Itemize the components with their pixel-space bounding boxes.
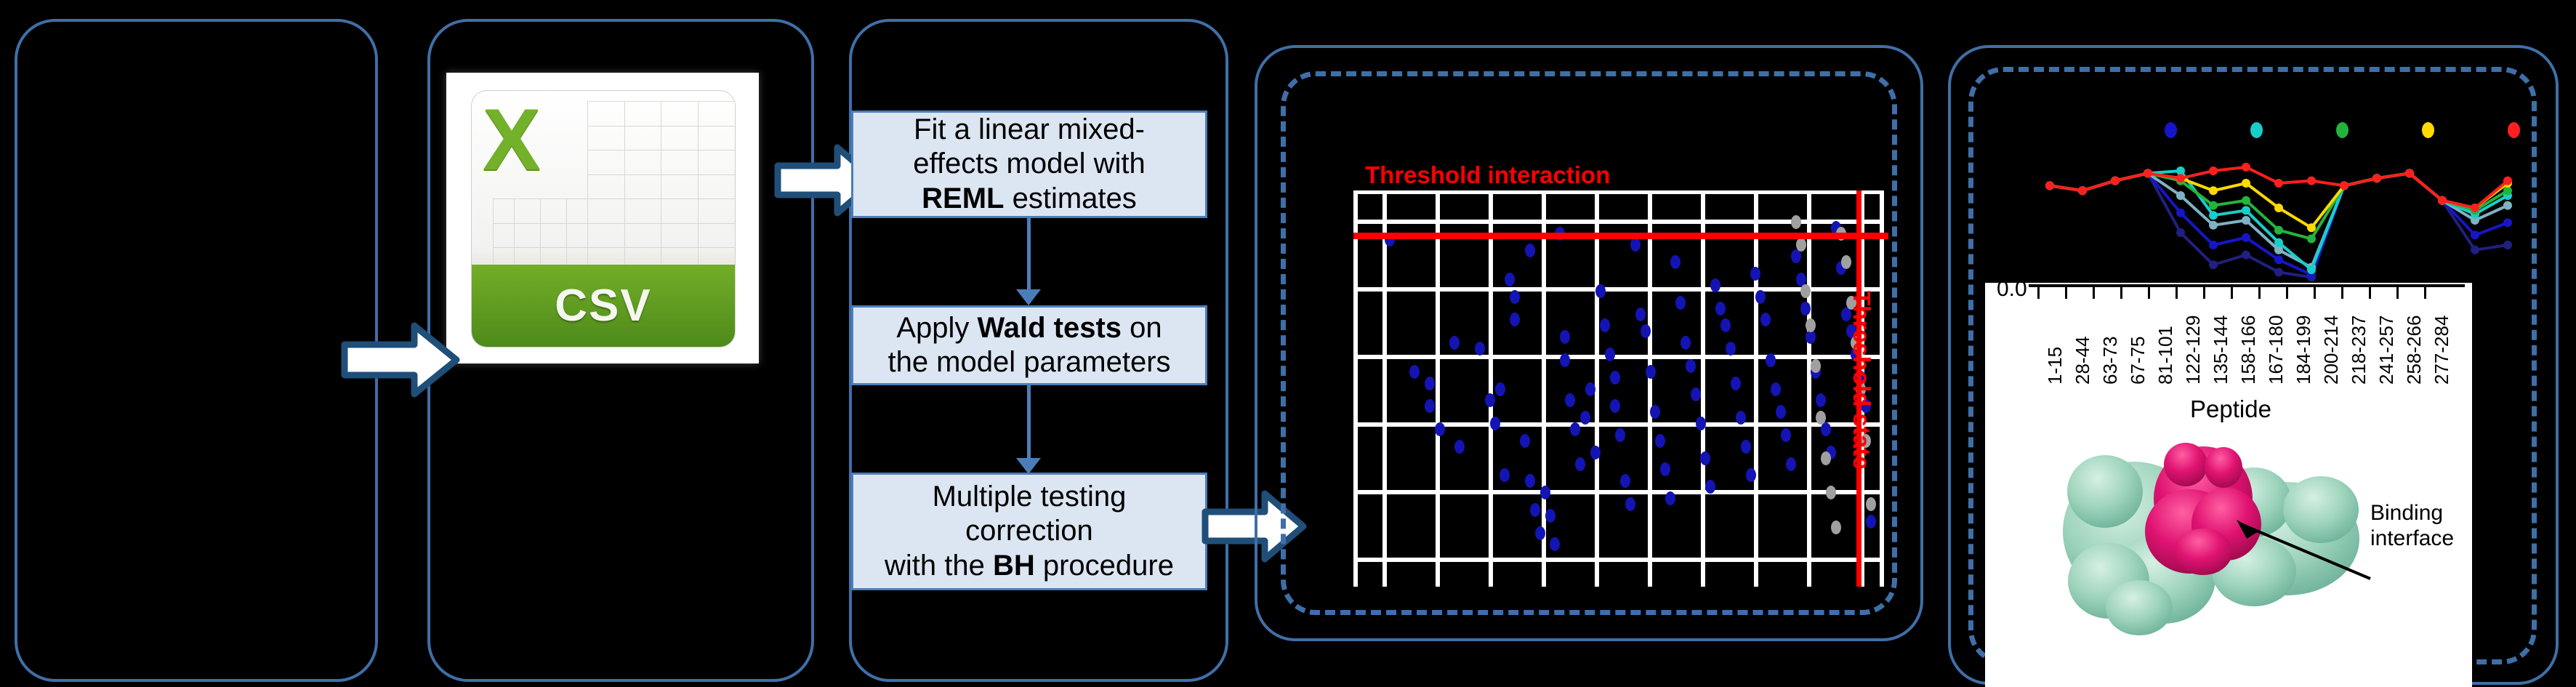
line-marker [2111, 177, 2120, 185]
scatter-point [1746, 468, 1756, 482]
line-marker [2503, 241, 2512, 249]
connector-2 [1027, 385, 1031, 461]
scatter-point [1635, 308, 1646, 321]
line-marker [2078, 186, 2087, 195]
line-marker [2242, 163, 2250, 172]
peptide-label: 1-15 [2044, 347, 2066, 385]
peptide-label: 63-73 [2099, 337, 2122, 385]
line-marker [2503, 201, 2512, 210]
connector-2-arrowhead [1016, 458, 1041, 474]
step3-line3-post: procedure [1035, 550, 1174, 582]
scatter-point [1525, 244, 1535, 257]
csv-label: CSV [555, 280, 651, 332]
line-marker [2307, 177, 2316, 185]
peptide-label: 135-144 [2210, 316, 2232, 385]
scatter-point [1655, 434, 1665, 448]
legend-dot-4 [2508, 122, 2520, 138]
scatter-point [1686, 359, 1696, 373]
scatter-point [1520, 434, 1530, 448]
scatter-point [1771, 382, 1781, 396]
scatter-point [1800, 302, 1811, 316]
line-marker [2471, 230, 2479, 239]
line-marker [2242, 206, 2250, 214]
binding-label-line1: Binding [2370, 501, 2454, 526]
scatter-point [1641, 324, 1651, 338]
step1-line2: effects model with [913, 148, 1145, 180]
step3-line3-pre: with the [885, 550, 993, 582]
scatter-point [1650, 405, 1660, 419]
line-marker [2503, 218, 2512, 227]
peptide-label: 158-166 [2237, 316, 2260, 385]
peptide-label: 184-199 [2293, 316, 2315, 385]
step2-bold: Wald tests [978, 312, 1122, 344]
scatter-point [1750, 267, 1760, 281]
scatter-point [1696, 417, 1706, 430]
scatter-point [1720, 318, 1731, 332]
scatter-point [1841, 255, 1851, 269]
scatter-point [1665, 491, 1675, 505]
step3-bold: BH [993, 550, 1035, 582]
line-marker [2209, 241, 2218, 249]
scatter-point [1791, 215, 1801, 229]
scatter-point [1425, 399, 1435, 413]
scatter-point [1585, 382, 1595, 396]
connector-1 [1027, 218, 1031, 292]
line-marker [2274, 179, 2283, 188]
scatter-point [1425, 377, 1435, 390]
scatter-point [1495, 382, 1505, 396]
scatter-plot-area [1353, 190, 1884, 587]
scatter-point [1435, 422, 1445, 436]
step1-line3-post: estimates [1005, 182, 1137, 214]
legend-dot-3 [2422, 122, 2434, 138]
line-marker [2209, 186, 2218, 195]
step2-line1-pre: Apply [896, 312, 977, 344]
line-marker [2274, 268, 2283, 276]
csv-icon-body: X CSV [471, 90, 735, 347]
arrow-step-1 [339, 320, 462, 400]
line-marker [2307, 235, 2316, 244]
threshold-interaction-line [1353, 233, 1888, 239]
line-marker [2209, 211, 2218, 220]
scatter-point [1540, 486, 1550, 499]
peptide-tick-labels: 1-1528-4463-7367-7581-101122-129135-1441… [1985, 283, 2472, 385]
legend-dot-0 [2165, 122, 2177, 138]
scatter-point [1545, 509, 1555, 523]
scatter-point [1530, 503, 1540, 517]
line-marker [2242, 179, 2250, 188]
peptide-label: 81-101 [2154, 326, 2177, 385]
scatter-point [1485, 393, 1495, 407]
line-marker [2307, 265, 2316, 274]
line-marker [2274, 255, 2283, 264]
line-marker [2176, 228, 2185, 237]
line-marker [2176, 174, 2185, 182]
excel-x-icon: X [483, 96, 582, 214]
scatter-point [1691, 387, 1701, 401]
scatter-points-layer [1353, 190, 1884, 587]
scatter-point [1580, 411, 1590, 425]
scatter-point [1675, 296, 1686, 310]
step3-line2: correction [965, 515, 1093, 547]
scatter-point [1800, 284, 1811, 298]
scatter-point [1625, 497, 1635, 511]
line-marker [2503, 177, 2512, 185]
scatter-point [1605, 347, 1615, 361]
scatter-point [1731, 377, 1741, 390]
step-wald-text: Apply Wald tests on the model parameters [887, 311, 1170, 379]
scatter-point [1630, 238, 1641, 252]
scatter-point [1600, 318, 1610, 332]
line-chart-legend [2006, 122, 2515, 144]
line-marker [2209, 201, 2218, 210]
step3-line1: Multiple testing [933, 481, 1127, 513]
scatter-point [1821, 422, 1831, 436]
scatter-point [1796, 238, 1806, 252]
line-marker [2438, 196, 2447, 205]
scatter-point [1449, 336, 1460, 350]
scatter-point [1826, 486, 1836, 499]
scatter-point [1560, 353, 1570, 367]
scatter-point [1760, 313, 1771, 326]
scatter-point [1866, 497, 1876, 511]
scatter-point [1525, 474, 1535, 488]
scatter-point [1755, 290, 1766, 304]
scatter-point [1454, 440, 1465, 454]
scatter-point [1475, 342, 1485, 355]
line-marker [2209, 260, 2218, 269]
peptide-label: 67-75 [2127, 337, 2149, 385]
scatter-point [1681, 336, 1691, 350]
line-marker [2176, 166, 2185, 175]
line-marker [2209, 166, 2218, 175]
scatter-point [1811, 359, 1821, 373]
scatter-point [1700, 451, 1710, 465]
peptide-label: 28-44 [2072, 337, 2094, 385]
csv-panel: X CSV [427, 19, 814, 682]
line-marker [2176, 191, 2185, 200]
step-correction-box[interactable]: Multiple testing correction with the BH … [851, 473, 1207, 590]
scatter-point [1816, 393, 1826, 407]
scatter-point [1590, 446, 1601, 459]
legend-dot-1 [2250, 122, 2263, 138]
line-marker [2242, 233, 2250, 242]
line-marker [2242, 216, 2250, 225]
scatter-point [1806, 318, 1816, 332]
threshold-interaction-label: Threshold interaction [1365, 161, 1610, 189]
scatter-point [1791, 249, 1801, 263]
line-marker [2242, 196, 2250, 205]
structure-image-box: 0.0 1-1528-4463-7367-7581-101122-129135-… [1985, 283, 2472, 687]
csv-file-icon[interactable]: X CSV [446, 73, 759, 363]
scatter-point [1409, 365, 1420, 379]
peptide-label: 122-129 [2182, 316, 2205, 385]
line-marker [2274, 238, 2283, 247]
peptide-axis-title: Peptide [2190, 395, 2271, 423]
peptide-label: 200-214 [2320, 316, 2343, 385]
line-marker [2471, 246, 2479, 254]
scatter-point [1490, 417, 1500, 430]
peptide-label: 241-257 [2375, 316, 2398, 385]
line-marker [2405, 169, 2414, 177]
scatter-point [1726, 342, 1736, 355]
line-marker [2209, 221, 2218, 230]
line-marker [2340, 181, 2348, 190]
scatter-point [1710, 278, 1720, 292]
scatter-point [1705, 480, 1715, 494]
peptide-line-chart-svg [2006, 145, 2515, 291]
line-marker [2144, 169, 2152, 177]
scatter-chart [1353, 190, 1884, 587]
scatter-point [1715, 302, 1726, 316]
connector-1-arrowhead [1016, 289, 1041, 305]
scatter-point [1510, 290, 1520, 304]
step2-line2: the model parameters [887, 346, 1170, 378]
scatter-point [1736, 411, 1746, 425]
peptide-line-chart [2006, 145, 2515, 291]
line-marker [2274, 204, 2283, 212]
threshold-state-label: Threshold state [1848, 291, 1875, 470]
scatter-point [1610, 371, 1620, 385]
scatter-point [1570, 422, 1580, 436]
line-marker [2176, 209, 2185, 217]
scatter-point [1565, 393, 1575, 407]
step1-line1: Fit a linear mixed- [914, 113, 1145, 145]
scatter-point [1500, 468, 1510, 482]
step-fit-model-text: Fit a linear mixed- effects model with R… [913, 113, 1145, 216]
scatter-point [1575, 457, 1585, 471]
step-wald-box[interactable]: Apply Wald tests on the model parameters [851, 305, 1207, 385]
scatter-point [1615, 428, 1625, 442]
line-marker [2045, 181, 2054, 190]
scatter-point [1776, 405, 1786, 419]
peptide-label: 277-284 [2431, 316, 2453, 385]
scatter-point [1766, 353, 1776, 367]
scatter-point [1786, 457, 1796, 471]
line-marker [2274, 226, 2283, 235]
empty-panel [15, 19, 378, 682]
scatter-point [1505, 273, 1515, 286]
peptide-label: 258-266 [2403, 316, 2426, 385]
scatter-point [1610, 399, 1620, 413]
step-correction-text: Multiple testing correction with the BH … [885, 480, 1174, 583]
line-marker [2242, 251, 2250, 260]
csv-label-band: CSV [472, 265, 734, 347]
scatter-point [1646, 365, 1656, 379]
step1-bold: REML [922, 182, 1004, 214]
scatter-point [1550, 537, 1560, 551]
peptide-label: 218-237 [2348, 316, 2370, 385]
binding-interface-label: Binding interface [2370, 501, 2454, 551]
scatter-point [1670, 255, 1681, 269]
peptide-label: 167-180 [2265, 316, 2287, 385]
scatter-point [1620, 474, 1630, 488]
line-marker [2307, 223, 2316, 232]
legend-dot-2 [2336, 122, 2348, 138]
scatter-point [1510, 313, 1520, 326]
line-marker [2372, 174, 2381, 182]
scatter-point [1741, 440, 1751, 454]
scatter-point [1831, 521, 1841, 534]
line-marker [2471, 204, 2479, 212]
step-fit-model-box[interactable]: Fit a linear mixed- effects model with R… [851, 111, 1207, 218]
scatter-point [1806, 330, 1816, 344]
scatter-point [1560, 330, 1570, 344]
step2-line1-post: on [1122, 312, 1162, 344]
scatter-point [1821, 451, 1831, 465]
scatter-point [1660, 462, 1670, 476]
scatter-point [1866, 515, 1876, 529]
binding-label-line2: interface [2370, 526, 2454, 552]
scatter-point [1781, 428, 1791, 442]
protein-structure-image [2036, 422, 2385, 655]
scatter-point [1535, 526, 1545, 540]
scatter-point [1595, 284, 1606, 298]
